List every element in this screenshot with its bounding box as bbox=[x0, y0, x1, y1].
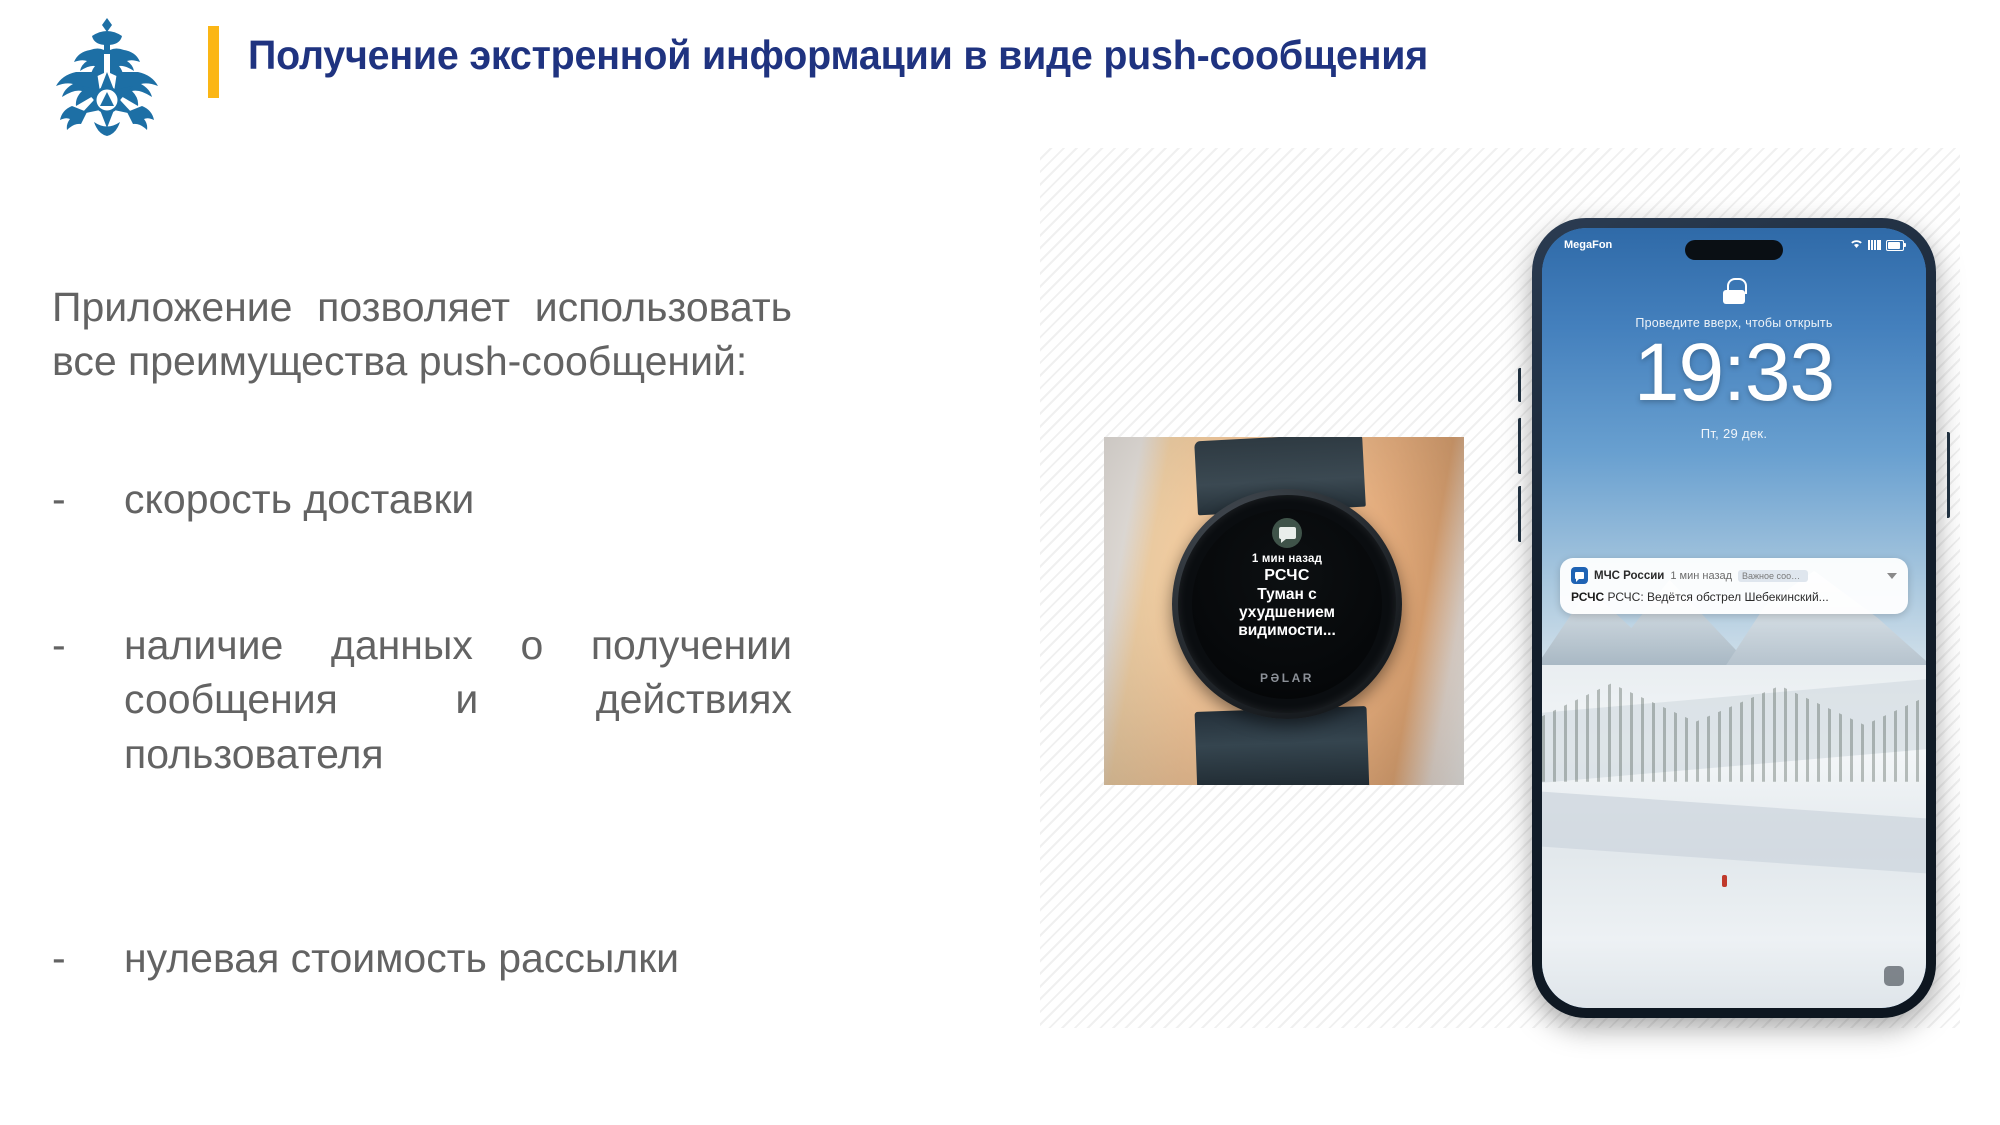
phone-status-bar: MegaFon bbox=[1542, 228, 1926, 262]
list-item-label: наличие данных о получении сообщения и д… bbox=[124, 618, 792, 834]
push-notification-card[interactable]: МЧС России 1 мин назад Важное сообщение … bbox=[1560, 558, 1908, 614]
page-title: Получение экстренной информации в виде p… bbox=[248, 32, 1880, 79]
slide-header: Получение экстренной информации в виде p… bbox=[0, 0, 2000, 150]
watch-time-ago: 1 мин назад bbox=[1192, 553, 1382, 565]
title-accent-bar bbox=[208, 26, 219, 98]
list-item: - скорость доставки bbox=[52, 472, 792, 526]
list-item-label: скорость доставки bbox=[124, 472, 792, 526]
wifi-icon bbox=[1850, 239, 1863, 252]
notification-header: МЧС России 1 мин назад Важное сообщение bbox=[1571, 567, 1897, 584]
phone-volume-up-button[interactable] bbox=[1518, 418, 1521, 474]
list-item-label: нулевая стоимость рассылки bbox=[124, 931, 792, 985]
watch-case: 1 мин назад РСЧС Туман с ухудшением види… bbox=[1172, 489, 1402, 719]
bullet-marker: - bbox=[52, 618, 82, 672]
camera-icon[interactable] bbox=[1884, 966, 1904, 986]
notification-text: РСЧС РСЧС: Ведётся обстрел Шебекинский..… bbox=[1571, 590, 1897, 604]
watch-brand-label: PƏLAR bbox=[1192, 671, 1382, 685]
wallpaper-skier bbox=[1722, 875, 1727, 887]
message-bubble-icon bbox=[1272, 518, 1302, 548]
signal-bars-icon bbox=[1868, 240, 1881, 250]
smartphone-mockup: MegaFon Проведите вверх, чтобы открыть 1… bbox=[1532, 218, 1936, 1018]
notification-message: РСЧС: Ведётся обстрел Шебекинский... bbox=[1608, 590, 1829, 604]
list-item: - нулевая стоимость рассылки bbox=[52, 931, 792, 985]
bullet-marker: - bbox=[52, 472, 82, 526]
lockscreen-date: Пт, 29 дек. bbox=[1542, 426, 1926, 441]
battery-icon bbox=[1886, 240, 1904, 251]
watch-message-line-3: видимости... bbox=[1192, 622, 1382, 640]
bullet-marker: - bbox=[52, 931, 82, 985]
smartwatch-photo: 1 мин назад РСЧС Туман с ухудшением види… bbox=[1104, 437, 1464, 785]
content-column: Приложение позволяет использовать все пр… bbox=[52, 280, 792, 985]
unlock-icon[interactable] bbox=[1723, 278, 1745, 304]
carrier-label: MegaFon bbox=[1564, 239, 1612, 251]
notification-source: РСЧС bbox=[1571, 590, 1604, 604]
list-item: - наличие данных о получении сообщения и… bbox=[52, 618, 792, 834]
intro-paragraph: Приложение позволяет использовать все пр… bbox=[52, 280, 792, 388]
watch-message-line-2: ухудшением bbox=[1192, 604, 1382, 622]
notification-time: 1 мин назад bbox=[1670, 570, 1732, 582]
phone-silent-switch[interactable] bbox=[1518, 368, 1521, 402]
mchs-app-icon bbox=[1571, 567, 1588, 584]
watch-notification: 1 мин назад РСЧС Туман с ухудшением види… bbox=[1192, 553, 1382, 640]
emercom-emblem-icon bbox=[42, 14, 172, 136]
phone-volume-down-button[interactable] bbox=[1518, 486, 1521, 542]
lockscreen-clock: 19:33 bbox=[1542, 332, 1926, 414]
phone-power-button[interactable] bbox=[1947, 432, 1950, 518]
watch-screen[interactable]: 1 мин назад РСЧС Туман с ухудшением види… bbox=[1192, 509, 1382, 699]
phone-screen[interactable]: MegaFon Проведите вверх, чтобы открыть 1… bbox=[1542, 228, 1926, 1008]
watch-bezel: 1 мин назад РСЧС Туман с ухудшением види… bbox=[1178, 495, 1396, 713]
notification-badge: Важное сообщение bbox=[1738, 570, 1808, 582]
chevron-down-icon[interactable] bbox=[1887, 573, 1897, 579]
notification-app-name: МЧС России bbox=[1594, 570, 1664, 582]
watch-message-line-1: Туман с bbox=[1192, 586, 1382, 604]
watch-source: РСЧС bbox=[1192, 567, 1382, 585]
